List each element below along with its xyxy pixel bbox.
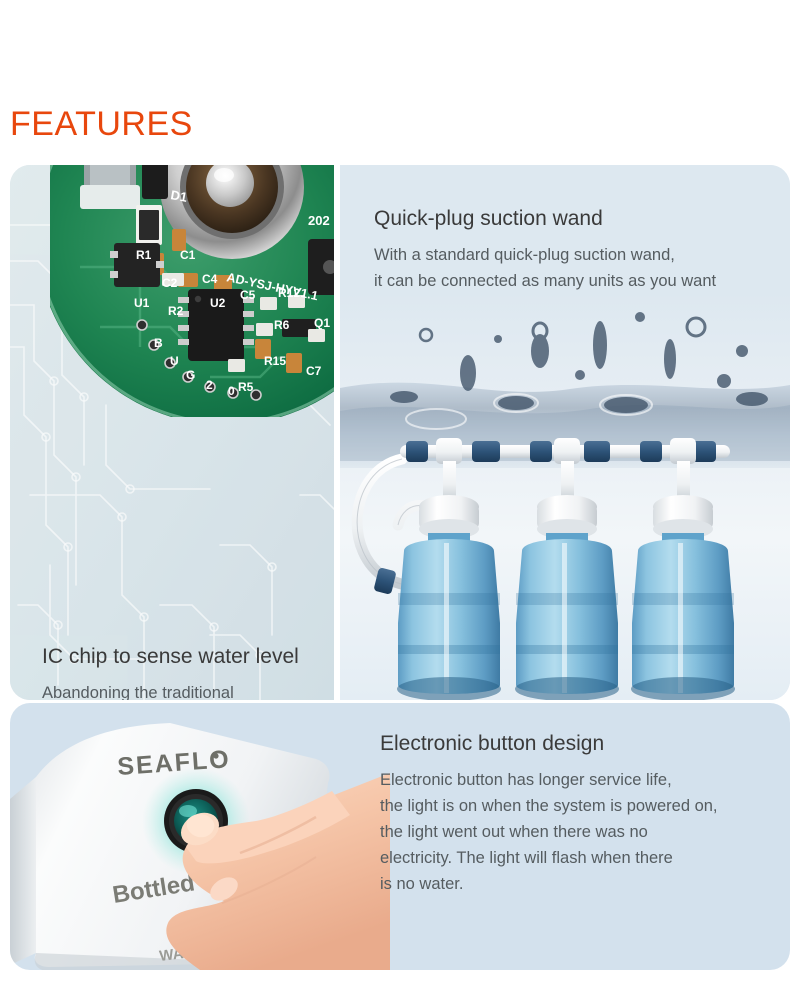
svg-text:R15: R15 [264, 354, 286, 368]
svg-text:R12: R12 [278, 286, 300, 300]
svg-text:C2: C2 [162, 276, 178, 290]
page-title: FEATURES [10, 104, 193, 144]
svg-text:G: G [186, 368, 195, 382]
panel-ic-chip: D1 R1 C1 C2 C4 AD-YSJ-HYV1.1 U1 R2 U2 C5… [10, 165, 334, 700]
svg-text:U1: U1 [134, 296, 150, 310]
svg-text:U2: U2 [210, 296, 226, 310]
feature-title: IC chip to sense water level [42, 643, 332, 671]
svg-text:U: U [170, 354, 179, 368]
feature-text-electronic-button: Electronic button design Electronic butt… [380, 730, 780, 897]
svg-text:C7: C7 [306, 364, 322, 378]
pcb-control-board-photo: D1 R1 C1 C2 C4 AD-YSJ-HYV1.1 U1 R2 U2 C5… [50, 165, 355, 417]
feature-body: Electronic button has longer service lif… [380, 767, 780, 897]
svg-text:2: 2 [206, 378, 213, 392]
feature-text-ic-chip: IC chip to sense water level Abandoning … [42, 643, 332, 700]
svg-text:R5: R5 [238, 380, 254, 394]
water-bottle-group [397, 461, 735, 700]
svg-text:R1: R1 [136, 248, 152, 262]
svg-text:B: B [154, 336, 163, 350]
pump-unit-button-photo: SEAFLO Bottled Water WARNING [10, 703, 390, 970]
panel-quick-plug-wand: Quick-plug suction wand With a standard … [340, 165, 790, 700]
feature-title: Electronic button design [380, 730, 780, 758]
svg-text:C4: C4 [202, 272, 218, 286]
manifold-pipe [400, 438, 730, 464]
svg-text:C5: C5 [240, 288, 256, 302]
features-top-block: D1 R1 C1 C2 C4 AD-YSJ-HYV1.1 U1 R2 U2 C5… [10, 165, 790, 700]
svg-text:R2: R2 [168, 304, 184, 318]
svg-text:0: 0 [228, 384, 235, 398]
feature-title: Quick-plug suction wand [374, 205, 790, 233]
svg-text:202: 202 [308, 213, 330, 228]
panel-electronic-button: SEAFLO Bottled Water WARNING Ele [10, 703, 790, 970]
feature-body: Abandoning the traditional floating ball… [42, 680, 332, 700]
svg-text:R6: R6 [274, 318, 290, 332]
svg-text:D1: D1 [169, 187, 188, 205]
svg-text:C1: C1 [180, 248, 196, 262]
water-bottles-manifold-photo [340, 293, 790, 700]
svg-text:Q1: Q1 [314, 316, 330, 330]
